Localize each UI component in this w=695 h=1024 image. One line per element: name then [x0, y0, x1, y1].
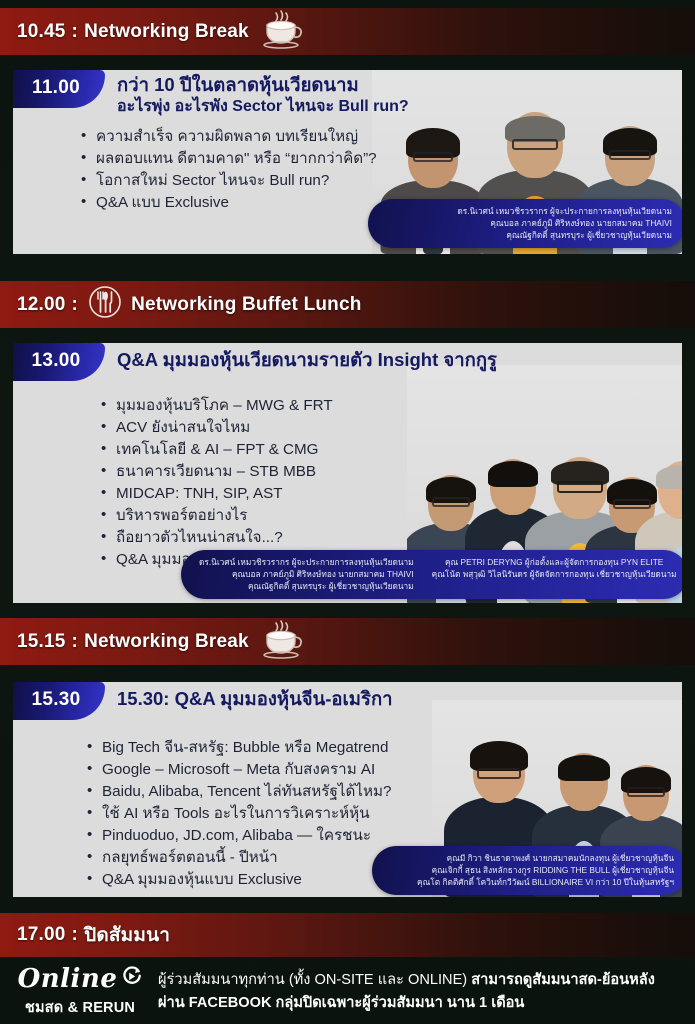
session-1300-title: Q&A มุมมองหุ้นเวียดนามรายตัว Insight จาก… — [117, 349, 497, 372]
footer-line-1: ผู้ร่วมสัมมนาทุกท่าน (ทั้ง ON-SITE และ O… — [158, 969, 655, 992]
session-1530-title: 15.30: Q&A มุมมองหุ้นจีน-อเมริกา — [117, 688, 393, 711]
caption-col-left: ดร.นิเวศน์ เหมวชิรวรากร ผู้จะประกายการลง… — [199, 556, 414, 592]
session-1100-bullets: ความสำเร็จ ความผิดพลาด บทเรียนใหญ่ ผลตอบ… — [81, 126, 377, 214]
bullet-item: ธนาคารเวียดนาม – STB MBB — [101, 461, 333, 483]
caption-line: คุณณัฐกิตติ์ สุนทรบุระ ผู้เชี่ยวชาญหุ้นเ… — [384, 229, 672, 241]
bullet-item: ACV ยังน่าสนใจไหม — [101, 417, 333, 439]
bullet-item: ความสำเร็จ ความผิดพลาด บทเรียนใหญ่ — [81, 126, 377, 148]
coffee-cup-icon — [259, 619, 303, 664]
session-1530-time-badge[interactable]: 15.30 — [13, 682, 105, 720]
bullet-item: บริหารพอร์ตอย่างไร — [101, 505, 333, 527]
session-1300-bullets: มุมมองหุ้นบริโภค – MWG & FRT ACV ยังน่าส… — [101, 395, 333, 571]
bullet-item: MIDCAP: TNH, SIP, AST — [101, 483, 333, 505]
caption-col-right: คุณ PETRI DERYNG ผู้ก่อตั้งและผู้จัดการก… — [432, 556, 677, 592]
play-circle-icon — [121, 966, 142, 992]
footer-line-1-bold: สามารถดูสัมมนาสด-ย้อนหลัง — [471, 972, 655, 988]
bullet-item: มุมมองหุ้นบริโภค – MWG & FRT — [101, 395, 333, 417]
caption-line: ดร.นิเวศน์ เหมวชิรวรากร ผู้จะประกายการลง… — [384, 205, 672, 217]
caption-line: คุณณัฐกิตติ์ สุนทรบุระ ผู้เชี่ยวชาญหุ้นเ… — [199, 580, 414, 592]
bullet-item: ถือยาวตัวไหนน่าสนใจ...? — [101, 527, 333, 549]
session-1530[interactable]: 15.30 15.30: Q&A มุมมองหุ้นจีน-อเมริกา B… — [13, 682, 682, 897]
bullet-item: Q&A แบบ Exclusive — [81, 192, 377, 214]
break-label-1515: Networking Break — [84, 631, 249, 653]
session-1100-title-line2: อะไรพุ่ง อะไรพัง Sector ไหนจะ Bull run? — [117, 97, 409, 117]
logo-online-text: Online — [18, 966, 118, 992]
lunch-label-1200: Networking Buffet Lunch — [131, 294, 361, 316]
break-time-1515: 15.15 — [17, 631, 66, 653]
bullet-item: ใช้ AI หรือ Tools อะไรในการวิเคราะห์หุ้น — [87, 803, 391, 825]
session-1100-time-badge[interactable]: 11.00 — [13, 70, 105, 108]
break-separator-1515: : — [72, 631, 79, 653]
session-1100[interactable]: 11.00 กว่า 10 ปีในตลาดหุ้นเวียดนาม อะไรพ… — [13, 70, 682, 254]
bullet-item: Pinduoduo, JD.com, Alibaba — ใครชนะ — [87, 825, 391, 847]
break-separator-1045: : — [72, 21, 79, 43]
footer-line-1-normal: ผู้ร่วมสัมมนาทุกท่าน (ทั้ง ON-SITE และ O… — [158, 972, 471, 988]
footer-note: ผู้ร่วมสัมมนาทุกท่าน (ทั้ง ON-SITE และ O… — [158, 969, 655, 1014]
bullet-item: Google – Microsoft – Meta กับสงคราม AI — [87, 759, 391, 781]
closing-bar-1700: 17.00 : ปิดสัมมนา — [0, 913, 695, 957]
coffee-cup-icon — [259, 9, 303, 54]
caption-line: คุณ PETRI DERYNG ผู้ก่อตั้งและผู้จัดการก… — [432, 556, 677, 568]
caption-line: คุณบอล ภาคย์ภูมิ ศิริหงษ์ทอง นายกสมาคม T… — [384, 217, 672, 229]
caption-line: คุณมี กิวา ชินธาดาพงศ์ นายกสมาคมนักลงทุน… — [388, 852, 674, 864]
session-1530-bullets: Big Tech จีน-สหรัฐ: Bubble หรือ Megatren… — [87, 737, 391, 891]
session-1100-title-line1: กว่า 10 ปีในตลาดหุ้นเวียดนาม — [117, 74, 409, 97]
caption-line: คุณเจิกกี้ สุธน สิงหลักธางกูร RIDDING TH… — [388, 864, 674, 876]
bullet-item: Q&A มุมมองหุ้นแบบ Exclusive — [87, 869, 391, 891]
online-rerun-logo: Online ชมสด & RERUN — [14, 966, 146, 1019]
break-time-1045: 10.45 — [17, 21, 66, 43]
session-1530-title-line1: 15.30: Q&A มุมมองหุ้นจีน-อเมริกา — [117, 688, 393, 711]
lunch-time-1200: 12.00 — [17, 294, 66, 316]
session-1300-title-line1: Q&A มุมมองหุ้นเวียดนามรายตัว Insight จาก… — [117, 349, 497, 372]
break-bar-1515: 15.15 : Networking Break — [0, 618, 695, 665]
lunch-bar-1200: 12.00 : Networking Buffet Lunch — [0, 281, 695, 328]
closing-separator-1700: : — [72, 924, 79, 946]
seminar-agenda-page: 10.45 : Networking Break — [0, 0, 695, 1024]
session-1100-title: กว่า 10 ปีในตลาดหุ้นเวียดนาม อะไรพุ่ง อะ… — [117, 74, 409, 116]
logo-subtitle: ชมสด & RERUN — [14, 996, 146, 1019]
bullet-item: Baidu, Alibaba, Tencent ไล่ทันสหรัฐได้ไห… — [87, 781, 391, 803]
footer: Online ชมสด & RERUN ผู้ร่วมสัมมนาทุกท่าน… — [0, 960, 695, 1024]
bullet-item: ผลตอบแทน ดีตามคาด" หรือ “ยากกว่าคิด”? — [81, 148, 377, 170]
footer-line-2: ผ่าน FACEBOOK กลุ่มปิดเฉพาะผู้ร่วมสัมมนา… — [158, 992, 655, 1015]
bullet-item: โอกาสใหม่ Sector ไหนจะ Bull run? — [81, 170, 377, 192]
caption-line: คุณบอล ภาคย์ภูมิ ศิริหงษ์ทอง นายกสมาคม T… — [199, 568, 414, 580]
lunch-separator-1200: : — [72, 294, 79, 316]
session-1100-speaker-caption: ดร.นิเวศน์ เหมวชิรวรากร ผู้จะประกายการลง… — [368, 199, 682, 248]
caption-line: คุณโน้ต พสุวุฒิ วิไลนิรันดร ผู้จัดจัดการ… — [432, 568, 677, 580]
session-1530-speaker-caption: คุณมี กิวา ชินธาดาพงศ์ นายกสมาคมนักลงทุน… — [372, 846, 682, 895]
caption-line: ดร.นิเวศน์ เหมวชิรวรากร ผู้จะประกายการลง… — [199, 556, 414, 568]
cutlery-icon — [88, 285, 122, 324]
session-1300-speaker-caption: ดร.นิเวศน์ เหมวชิรวรากร ผู้จะประกายการลง… — [181, 550, 682, 599]
session-1300[interactable]: 13.00 Q&A มุมมองหุ้นเวียดนามรายตัว Insig… — [13, 343, 682, 603]
break-label-1045: Networking Break — [84, 21, 249, 43]
caption-line: คุณโต กิตติศักดิ์ โควินท์กวีวัฒน์ BILLIO… — [388, 876, 674, 888]
break-bar-1045: 10.45 : Networking Break — [0, 8, 695, 55]
bullet-item: Big Tech จีน-สหรัฐ: Bubble หรือ Megatren… — [87, 737, 391, 759]
session-1300-time-badge[interactable]: 13.00 — [13, 343, 105, 381]
bullet-item: เทคโนโลยี & AI – FPT & CMG — [101, 439, 333, 461]
closing-label-1700: ปิดสัมมนา — [84, 920, 170, 950]
bullet-item: กลยุทธ์พอร์ตตอนนี้ - ปีหน้า — [87, 847, 391, 869]
closing-time-1700: 17.00 — [17, 924, 66, 946]
